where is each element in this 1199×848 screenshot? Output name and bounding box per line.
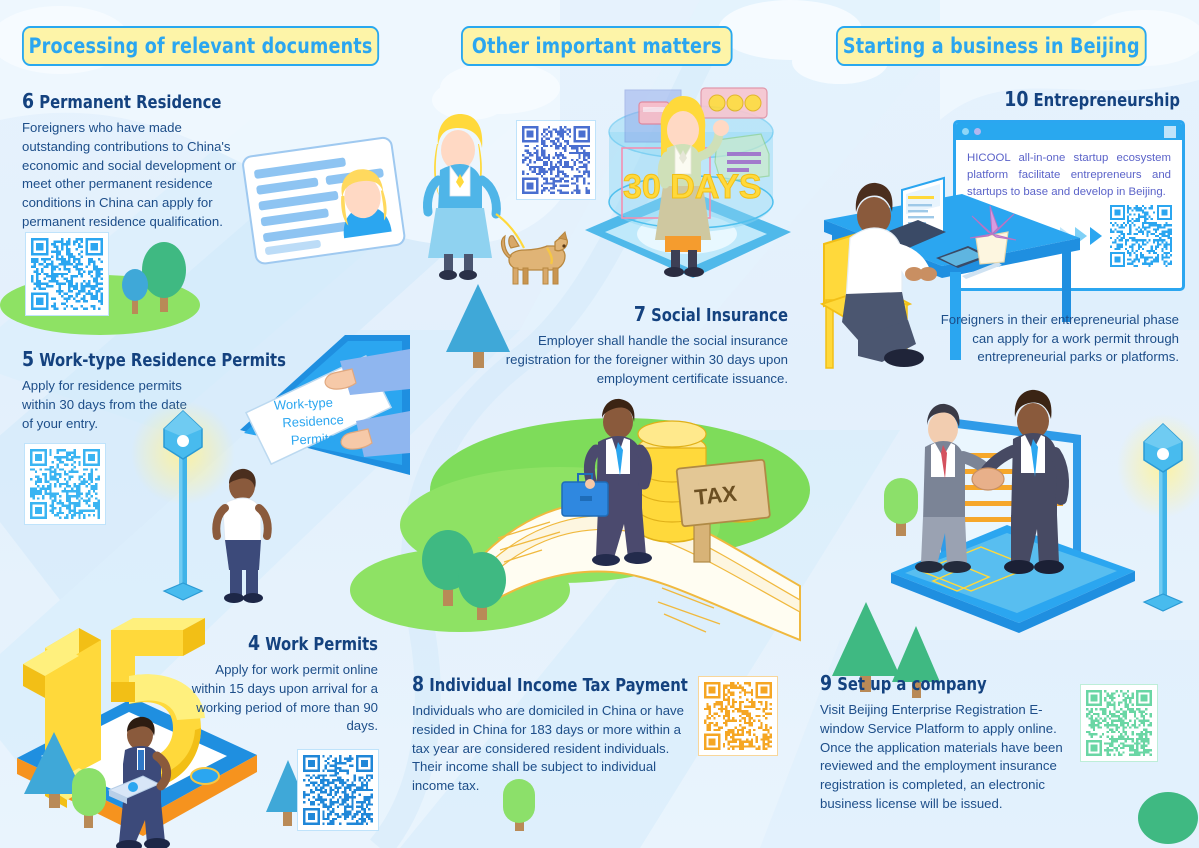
qr-matrix — [30, 449, 100, 519]
qr-matrix — [31, 238, 103, 310]
section-heading: 9 Set up a company — [820, 672, 1083, 695]
qr-matrix — [704, 682, 772, 750]
window-dot-icon — [962, 128, 969, 135]
window-maximize-icon[interactable] — [1164, 126, 1176, 138]
section-number: 6 — [22, 89, 34, 113]
permit-line-1: Work-type — [274, 395, 334, 413]
tax-sign-label: TAX — [693, 481, 738, 510]
permit-line-2: Residence — [282, 412, 344, 430]
qr-matrix — [1086, 690, 1152, 756]
section-work-permits: 4 Work Permits Apply for work permit onl… — [178, 632, 378, 736]
window-dots — [962, 128, 981, 135]
section-number: 7 — [634, 302, 646, 326]
section-set-up-a-company: 9 Set up a company Visit Beijing Enterpr… — [820, 672, 1100, 814]
entrepreneurship-body: Foreigners in their entrepreneurial phas… — [930, 305, 1179, 367]
qr-individual-income-tax[interactable] — [698, 676, 778, 756]
walking-person-left — [203, 470, 283, 605]
bush-bottom-middle — [495, 775, 545, 835]
section-heading: 4 Work Permits — [190, 632, 378, 655]
id-card-illustration — [232, 135, 412, 285]
section-social-insurance: 7 Social Insurance Employer shall handle… — [500, 303, 788, 388]
infographic-canvas: Processing of relevant documents Other i… — [0, 0, 1199, 848]
section-body: Employer shall handle the social insuran… — [500, 332, 788, 388]
section-number: 4 — [248, 631, 260, 655]
qr-hicool[interactable] — [1110, 205, 1172, 267]
section-body: Individuals who are domiciled in China o… — [412, 702, 688, 796]
section-title: Social Insurance — [651, 306, 788, 326]
section-body: Visit Beijing Enterprise Registration E-… — [820, 701, 1086, 813]
permit-line-3: Permits — [290, 430, 335, 447]
qr-permanent-residence[interactable] — [25, 232, 109, 316]
section-entrepreneurship: 10 Entrepreneurship — [930, 88, 1180, 111]
section-title: Set up a company — [837, 675, 986, 695]
qr-work-type-residence-permits[interactable] — [24, 443, 106, 525]
section-individual-income-tax: 8 Individual Income Tax Payment Individu… — [412, 673, 702, 796]
bush-bottom-right — [1138, 780, 1198, 848]
section-title: Individual Income Tax Payment — [429, 676, 688, 696]
section-title: Permanent Residence — [39, 93, 221, 113]
section-number: 10 — [1004, 87, 1028, 111]
section-number: 9 — [820, 671, 832, 695]
hologram-text-30-days: 30 DAYS — [623, 168, 762, 206]
qr-set-up-company[interactable] — [1080, 684, 1158, 762]
qr-matrix — [303, 755, 373, 825]
section-number: 5 — [22, 347, 34, 371]
window-dot-icon — [974, 128, 981, 135]
trees-group-left — [108, 228, 218, 318]
street-lamp-right — [1118, 410, 1199, 625]
section-heading: 8 Individual Income Tax Payment — [412, 673, 685, 696]
section-heading: 6 Permanent Residence — [22, 90, 257, 113]
section-body: Foreigners who have made outstanding con… — [22, 119, 250, 231]
section-title: Entrepreneurship — [1034, 91, 1180, 111]
qr-work-permits[interactable] — [297, 749, 379, 831]
window-titlebar — [956, 123, 1182, 140]
trees-bottom-left — [18, 738, 128, 838]
trees-right — [868, 460, 938, 550]
section-body: Apply for work permit online within 15 d… — [178, 661, 378, 736]
section-body: Foreigners in their entrepreneurial phas… — [930, 311, 1179, 367]
section-heading: 10 Entrepreneurship — [945, 88, 1180, 111]
trees-middle-lower — [415, 490, 535, 620]
section-title: Work Permits — [265, 635, 378, 655]
section-number: 8 — [412, 672, 424, 696]
qr-matrix — [1110, 205, 1172, 267]
section-heading: 7 Social Insurance — [517, 303, 788, 326]
